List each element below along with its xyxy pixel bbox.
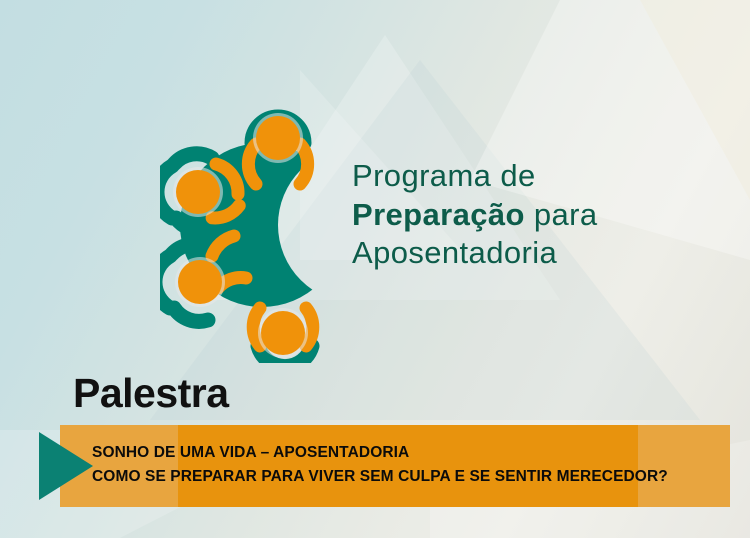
triangle-right-icon [35, 430, 97, 502]
title-line-2-rest: para [525, 197, 598, 232]
banner-line-2: COMO SE PREPARAR PARA VIVER SEM CULPA E … [92, 465, 712, 489]
title-line-1: Programa de [352, 158, 732, 195]
logo [160, 88, 350, 363]
logo-person-bottom [253, 308, 313, 363]
title-line-2: Preparação para [352, 197, 732, 234]
banner-text: SONHO DE UMA VIDA – APOSENTADORIA COMO S… [92, 441, 712, 489]
talk-banner: SONHO DE UMA VIDA – APOSENTADORIA COMO S… [60, 425, 730, 507]
title-line-2-bold: Preparação [352, 197, 525, 232]
section-label: Palestra [73, 370, 229, 417]
title-line-3: Aposentadoria [352, 235, 732, 272]
banner-line-1: SONHO DE UMA VIDA – APOSENTADORIA [92, 441, 712, 465]
poster-canvas: Programa de Preparação para Aposentadori… [0, 0, 750, 538]
program-title: Programa de Preparação para Aposentadori… [352, 158, 732, 272]
